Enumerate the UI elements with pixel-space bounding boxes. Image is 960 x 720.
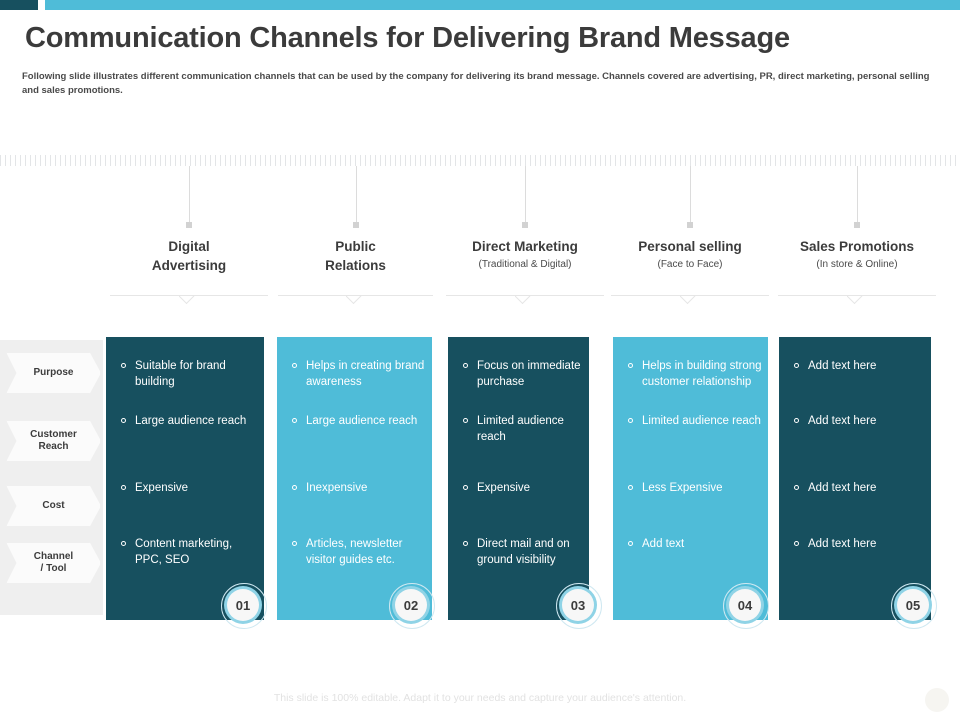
bullet-item: Helps in creating brand awareness <box>291 359 426 390</box>
divider-notch-icon-4 <box>680 295 700 305</box>
content-column-4[interactable]: Helps in building strong customer relati… <box>613 337 768 620</box>
header-connector-dot-1 <box>186 222 192 228</box>
content-column-1[interactable]: Suitable for brand buildingLarge audienc… <box>106 337 264 620</box>
bullet-item: Limited audience reach <box>627 414 762 430</box>
bullet-item: Direct mail and on ground visibility <box>462 537 583 568</box>
column-header-1[interactable]: DigitalAdvertising <box>110 238 268 276</box>
content-column-2[interactable]: Helps in creating brand awarenessLarge a… <box>277 337 432 620</box>
footer-note: This slide is 100% editable. Adapt it to… <box>0 692 960 704</box>
page-title: Communication Channels for Delivering Br… <box>25 22 935 55</box>
column-number-badge-3[interactable]: 03 <box>556 583 600 627</box>
bullet-item: Suitable for brand building <box>120 359 258 390</box>
column-header-title-5: Sales Promotions <box>778 238 936 257</box>
row-label-1[interactable]: Purpose <box>6 352 101 394</box>
ruler-tick-strip <box>0 155 960 166</box>
header-connector-line-1 <box>189 166 190 224</box>
content-column-5[interactable]: Add text hereAdd text hereAdd text hereA… <box>779 337 931 620</box>
column-header-divider-4 <box>611 295 769 307</box>
header-connector-line-5 <box>857 166 858 224</box>
page-subtitle: Following slide illustrates different co… <box>22 70 940 98</box>
top-accent-dark-segment <box>0 0 38 10</box>
divider-notch-icon-5 <box>847 295 867 305</box>
column-header-3[interactable]: Direct Marketing(Traditional & Digital) <box>446 238 604 272</box>
row-label-text-1: Purpose <box>33 367 73 380</box>
divider-notch-icon-3 <box>515 295 535 305</box>
column-header-divider-1 <box>110 295 268 307</box>
column-header-title-4: Personal selling <box>611 238 769 257</box>
column-number-badge-5[interactable]: 05 <box>891 583 935 627</box>
bullet-item: Inexpensive <box>291 481 426 497</box>
header-connector-dot-5 <box>854 222 860 228</box>
row-label-text-4: Channel/ Tool <box>34 551 73 576</box>
bullet-item: Add text here <box>793 481 925 497</box>
column-header-divider-3 <box>446 295 604 307</box>
column-header-divider-2 <box>278 295 433 307</box>
bullet-item: Large audience reach <box>291 414 426 430</box>
bullet-item: Content marketing, PPC, SEO <box>120 537 258 568</box>
column-header-5[interactable]: Sales Promotions(In store & Online) <box>778 238 936 272</box>
row-label-text-3: Cost <box>42 500 64 513</box>
top-accent-bar <box>0 0 960 10</box>
bullet-item: Focus on immediate purchase <box>462 359 583 390</box>
row-label-2[interactable]: CustomerReach <box>6 420 101 462</box>
bullet-item: Add text here <box>793 414 925 430</box>
top-accent-light-segment <box>45 0 960 10</box>
content-column-3[interactable]: Focus on immediate purchaseLimited audie… <box>448 337 589 620</box>
bullet-item: Expensive <box>462 481 583 497</box>
column-header-subtitle-5: (In store & Online) <box>778 258 936 272</box>
header-connector-dot-3 <box>522 222 528 228</box>
bullet-item: Articles, newsletter visitor guides etc. <box>291 537 426 568</box>
header-connector-dot-4 <box>687 222 693 228</box>
column-header-2[interactable]: PublicRelations <box>278 238 433 276</box>
column-header-subtitle-3: (Traditional & Digital) <box>446 258 604 272</box>
badge-number: 02 <box>404 598 418 613</box>
column-header-4[interactable]: Personal selling(Face to Face) <box>611 238 769 272</box>
bullet-item: Add text here <box>793 359 925 375</box>
column-number-badge-4[interactable]: 04 <box>723 583 767 627</box>
divider-notch-icon-2 <box>346 295 366 305</box>
badge-inner-circle: 05 <box>897 589 929 621</box>
header-connector-dot-2 <box>353 222 359 228</box>
badge-number: 03 <box>571 598 585 613</box>
bullet-item: Add text here <box>793 537 925 553</box>
row-label-text-2: CustomerReach <box>30 429 77 454</box>
header-connector-line-4 <box>690 166 691 224</box>
badge-inner-circle: 01 <box>227 589 259 621</box>
badge-number: 04 <box>738 598 752 613</box>
column-header-title-1: DigitalAdvertising <box>110 238 268 276</box>
column-header-subtitle-4: (Face to Face) <box>611 258 769 272</box>
bullet-item: Add text <box>627 537 762 553</box>
corner-decoration-dot <box>925 688 949 712</box>
bullet-item: Large audience reach <box>120 414 258 430</box>
column-header-divider-5 <box>778 295 936 307</box>
badge-inner-circle: 02 <box>395 589 427 621</box>
bullet-item: Limited audience reach <box>462 414 583 445</box>
badge-number: 05 <box>906 598 920 613</box>
divider-notch-icon-1 <box>179 295 199 305</box>
bullet-item: Expensive <box>120 481 258 497</box>
row-label-3[interactable]: Cost <box>6 485 101 527</box>
column-number-badge-1[interactable]: 01 <box>221 583 265 627</box>
row-label-4[interactable]: Channel/ Tool <box>6 542 101 584</box>
badge-inner-circle: 03 <box>562 589 594 621</box>
column-header-title-3: Direct Marketing <box>446 238 604 257</box>
column-header-title-2: PublicRelations <box>278 238 433 276</box>
bullet-item: Helps in building strong customer relati… <box>627 359 762 390</box>
badge-number: 01 <box>236 598 250 613</box>
column-number-badge-2[interactable]: 02 <box>389 583 433 627</box>
badge-inner-circle: 04 <box>729 589 761 621</box>
bullet-item: Less Expensive <box>627 481 762 497</box>
header-connector-line-3 <box>525 166 526 224</box>
header-connector-line-2 <box>356 166 357 224</box>
